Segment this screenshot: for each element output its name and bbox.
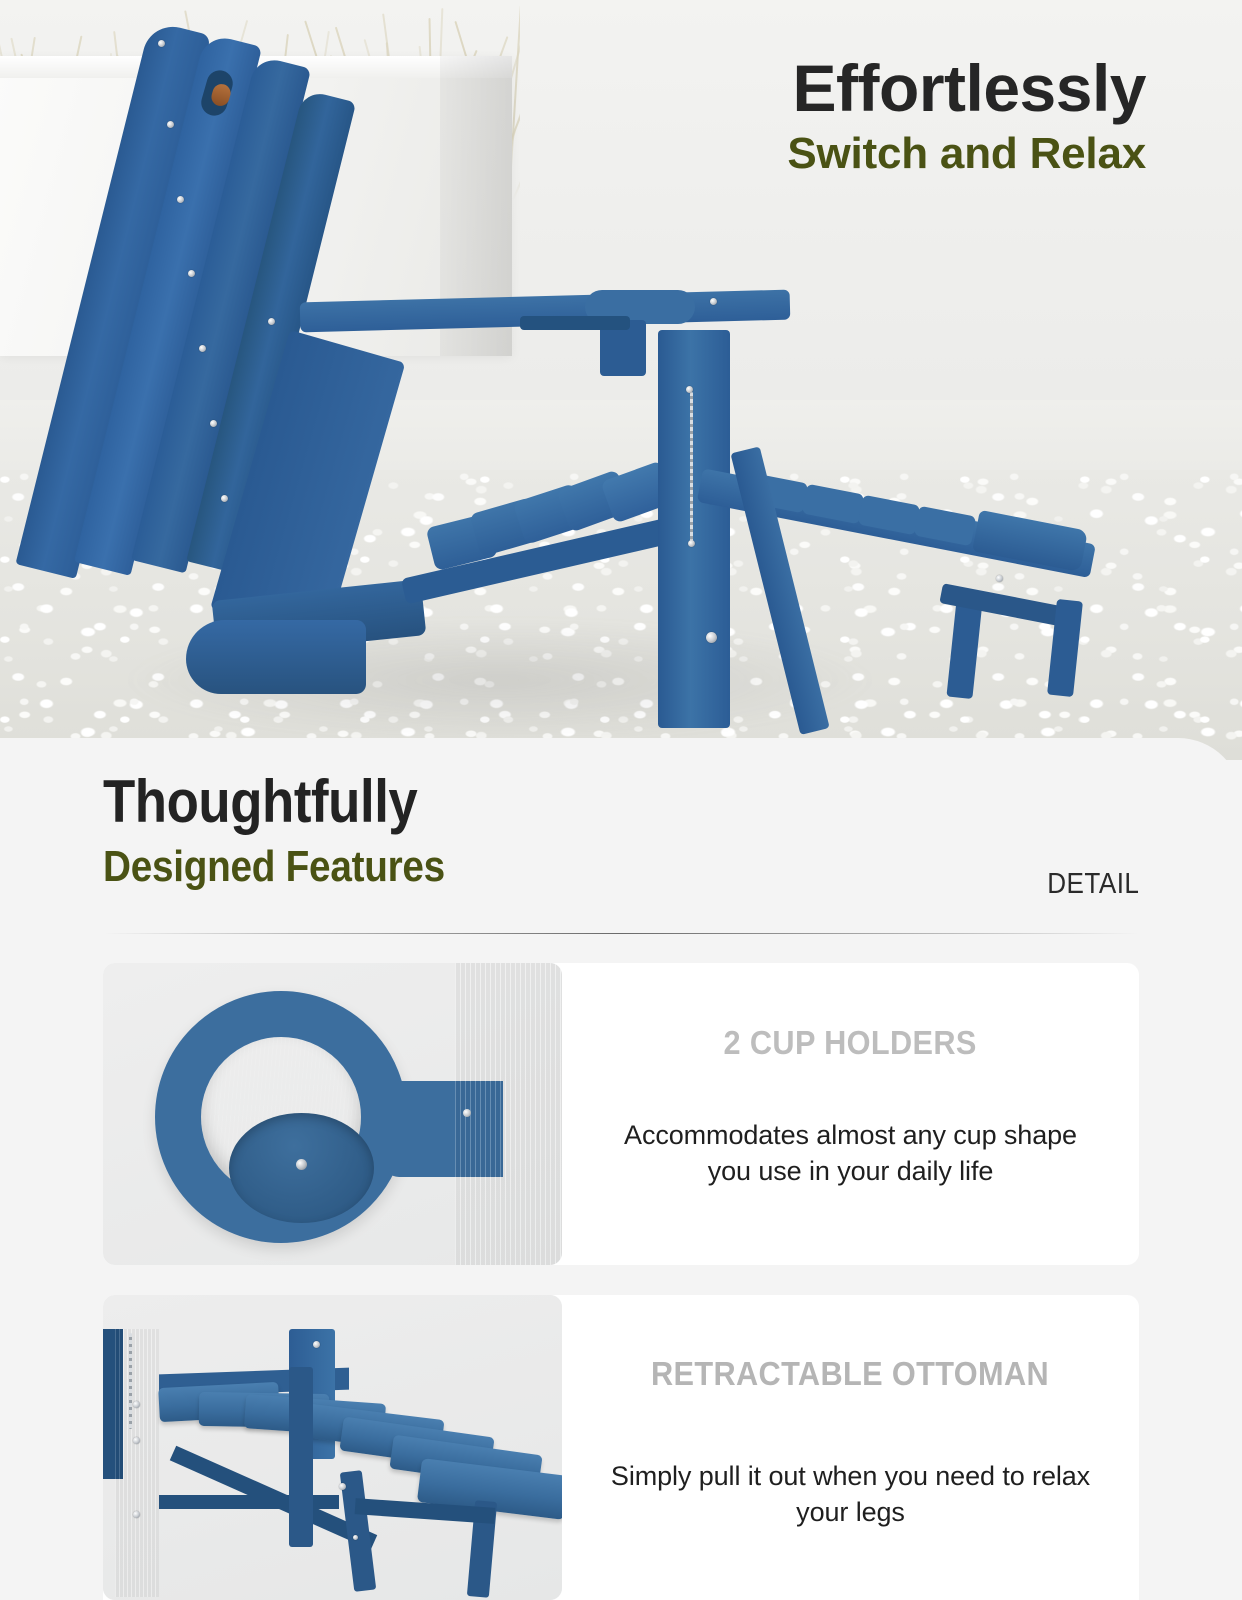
chair-center-leg [658, 330, 730, 728]
chair-chain [690, 392, 693, 542]
screw [133, 1437, 140, 1444]
screw [188, 270, 195, 277]
hero-section: Effortlessly Switch and Relax [0, 0, 1242, 760]
hero-headline-secondary: Switch and Relax [787, 129, 1146, 180]
chair-arm-post [455, 963, 562, 1265]
chair-leg-post [115, 1329, 159, 1597]
screw [133, 1401, 140, 1408]
screw [210, 420, 217, 427]
feature-description: Simply pull it out when you need to rela… [601, 1459, 1101, 1530]
screw [353, 1535, 358, 1540]
ottoman-illustration [103, 1295, 562, 1600]
chair-front-foot [186, 620, 366, 694]
screw [706, 632, 717, 643]
screw [688, 540, 695, 547]
arm-post-screw [463, 1109, 471, 1117]
screw [199, 345, 206, 352]
section-header: Thoughtfully Designed Features DETAIL [103, 772, 1139, 890]
ottoman-support-leg [289, 1367, 313, 1547]
section-title: Thoughtfully [103, 772, 1015, 832]
feature-photo-ottoman [103, 1295, 562, 1600]
screw [158, 40, 165, 47]
screw [268, 318, 275, 325]
screw [221, 495, 228, 502]
feature-text-ottoman: RETRACTABLE OTTOMAN Simply pull it out w… [562, 1295, 1139, 1600]
feature-photo-cup-holder [103, 963, 562, 1265]
screw [996, 575, 1003, 582]
feature-card-cup-holders: 2 CUP HOLDERS Accommodates almost any cu… [103, 963, 1139, 1265]
hero-headline-group: Effortlessly Switch and Relax [787, 54, 1146, 180]
section-divider [103, 933, 1139, 934]
screw [133, 1511, 140, 1518]
chair-arm-support [520, 316, 630, 330]
cup-holder-illustration [103, 963, 562, 1265]
feature-text-cup-holders: 2 CUP HOLDERS Accommodates almost any cu… [562, 963, 1139, 1265]
feature-description: Accommodates almost any cup shape you us… [601, 1118, 1101, 1189]
screw [177, 196, 184, 203]
screw [710, 298, 717, 305]
ottoman-chain [129, 1333, 132, 1429]
hero-headline-primary: Effortlessly [787, 54, 1146, 123]
screw [313, 1341, 320, 1348]
section-subtitle: Designed Features [103, 844, 1015, 890]
feature-title: RETRACTABLE OTTOMAN [651, 1355, 1049, 1393]
product-feature-page: Effortlessly Switch and Relax Thoughtful… [0, 0, 1242, 1600]
cup-holder-screw [296, 1159, 307, 1170]
screw [339, 1483, 346, 1490]
detail-label: DETAIL [1047, 868, 1139, 901]
chain-anchor-screw [686, 386, 693, 393]
feature-title: 2 CUP HOLDERS [724, 1024, 977, 1062]
screw [167, 121, 174, 128]
feature-card-retractable-ottoman: RETRACTABLE OTTOMAN Simply pull it out w… [103, 1295, 1139, 1600]
